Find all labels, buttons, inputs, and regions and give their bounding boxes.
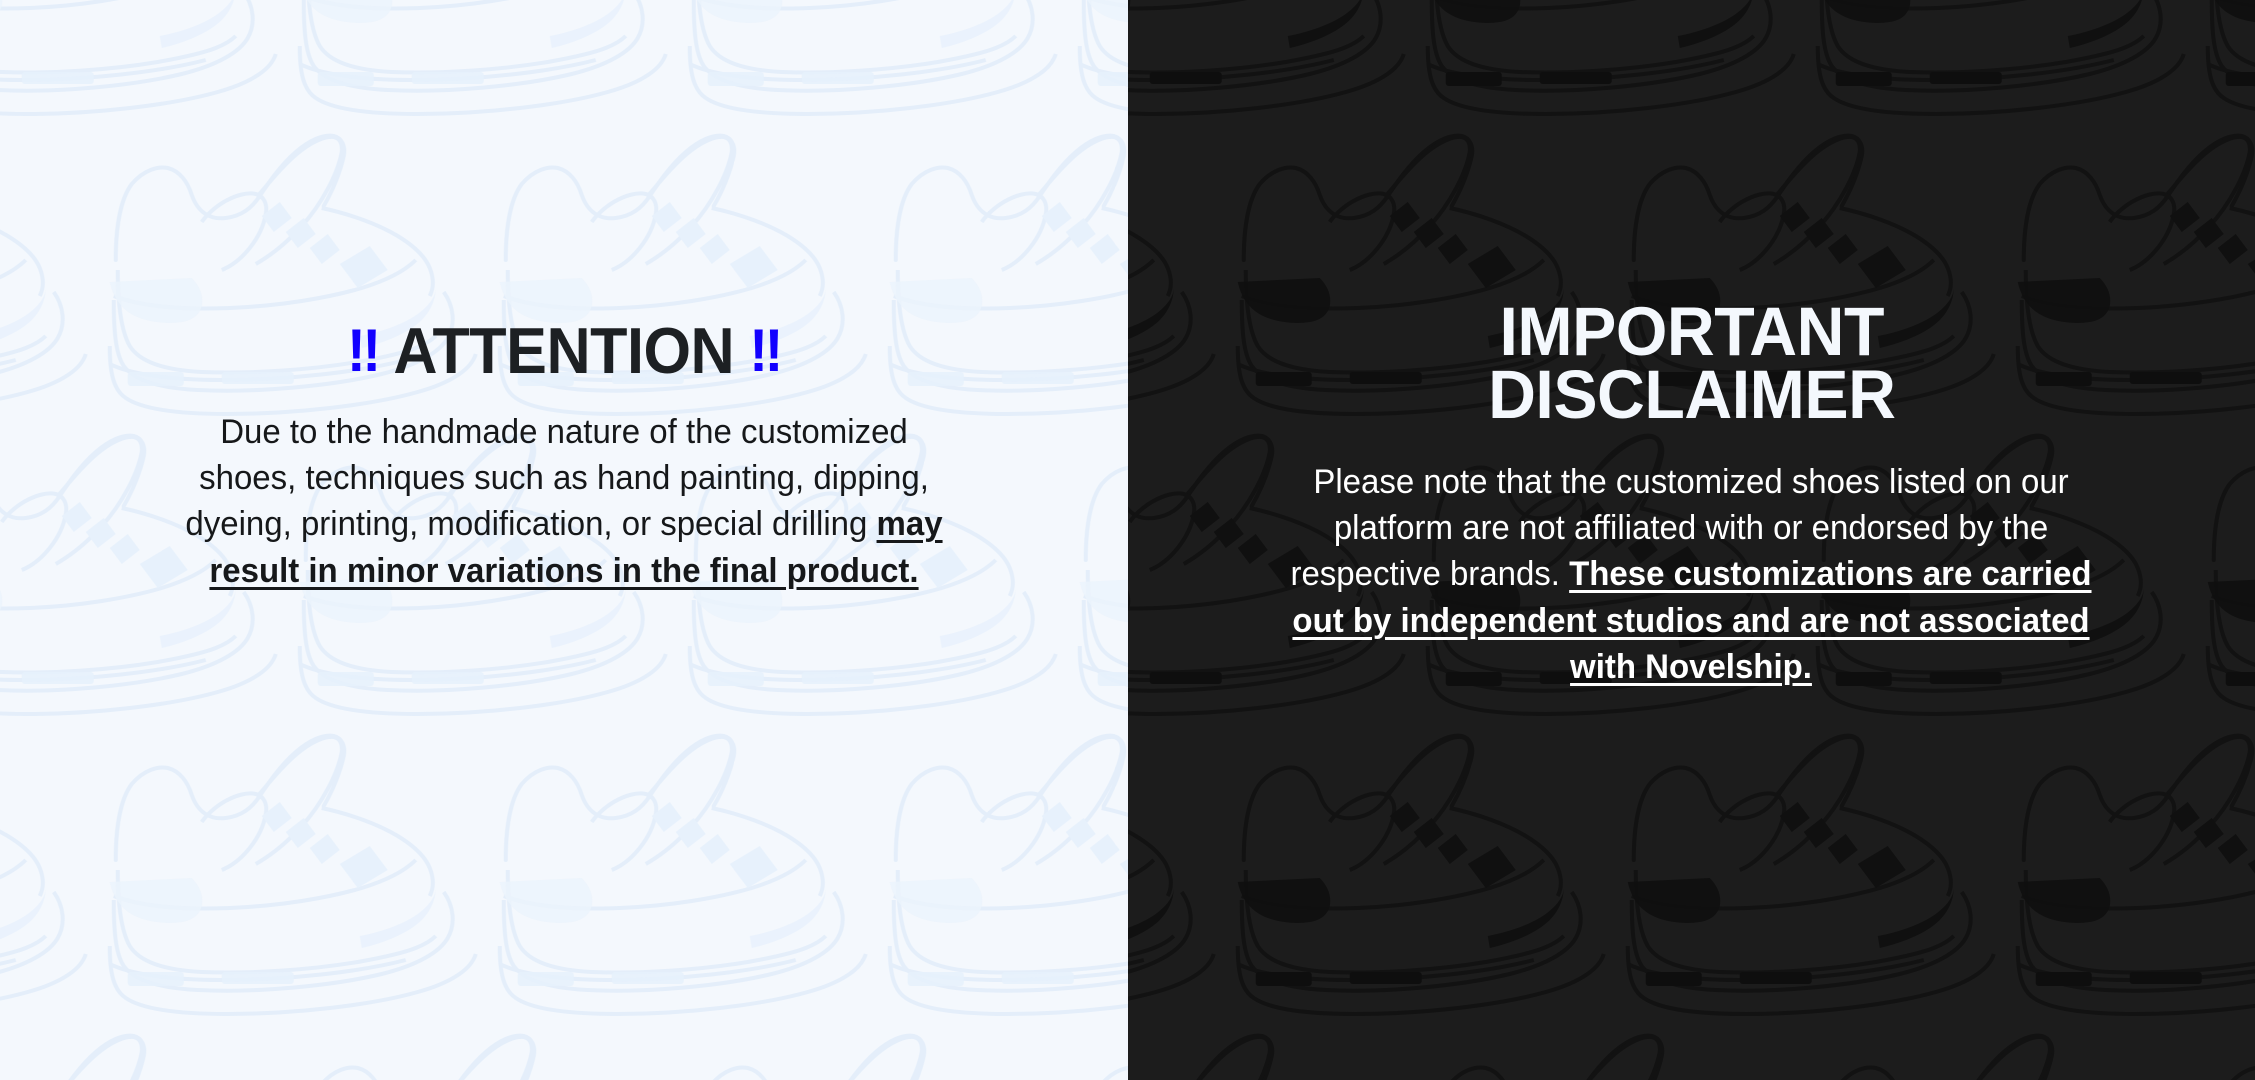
double-exclamation-left-icon: ‼	[347, 317, 378, 384]
disclaimer-heading-line2: DISCLAIMER	[1488, 356, 1895, 433]
attention-body-normal: Due to the handmade nature of the custom…	[185, 413, 928, 543]
attention-heading: ‼ATTENTION‼	[34, 318, 1094, 383]
attention-heading-text: ATTENTION	[393, 314, 734, 387]
disclaimer-content: IMPORTANT DISCLAIMER Please note that th…	[1128, 300, 2255, 690]
attention-content: ‼ATTENTION‼ Due to the handmade nature o…	[0, 318, 1128, 594]
double-exclamation-right-icon: ‼	[749, 317, 780, 384]
split-banner: ‼ATTENTION‼ Due to the handmade nature o…	[0, 0, 2255, 1080]
disclaimer-panel: IMPORTANT DISCLAIMER Please note that th…	[1128, 0, 2255, 1080]
attention-panel: ‼ATTENTION‼ Due to the handmade nature o…	[0, 0, 1128, 1080]
disclaimer-heading: IMPORTANT DISCLAIMER	[1150, 300, 2232, 427]
attention-body: Due to the handmade nature of the custom…	[176, 409, 952, 594]
disclaimer-body: Please note that the customized shoes li…	[1289, 459, 2094, 690]
